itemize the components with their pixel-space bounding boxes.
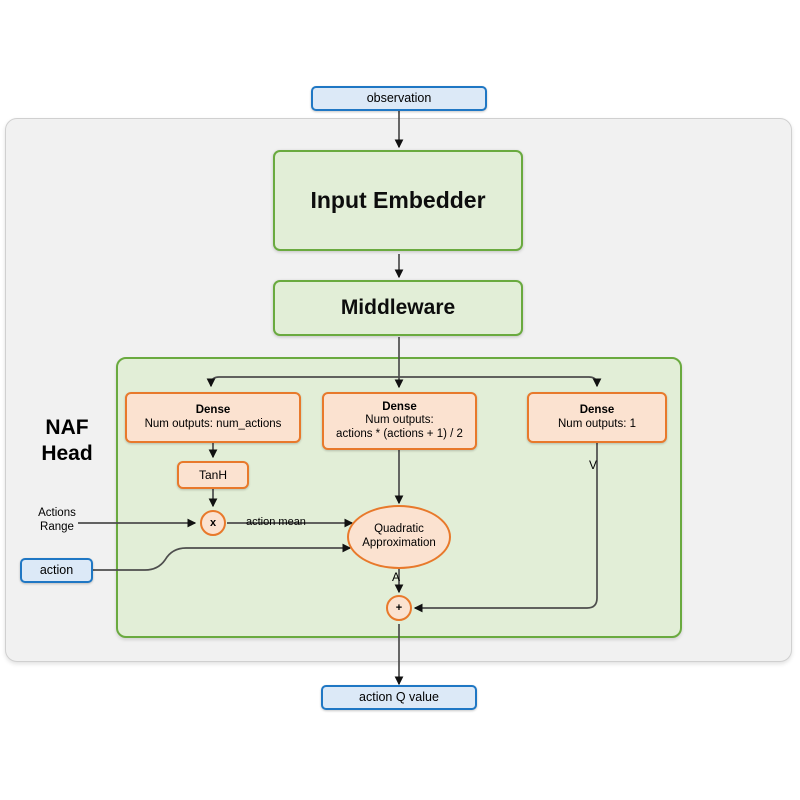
input-embedder-label: Input Embedder (310, 187, 485, 214)
dense-value-title: Dense (580, 404, 615, 418)
tanh-node[interactable]: TanH (177, 461, 249, 489)
dense-mean-title: Dense (196, 404, 231, 418)
multiply-op[interactable]: x (200, 510, 226, 536)
action-node[interactable]: action (20, 558, 93, 583)
dense-mean-node[interactable]: Dense Num outputs: num_actions (125, 392, 301, 443)
add-op[interactable]: + (386, 595, 412, 621)
dense-matrix-detail-1: Num outputs: (365, 414, 433, 428)
tanh-label: TanH (199, 468, 227, 482)
naf-head-label-line2: Head (22, 441, 112, 467)
naf-head-label-line1: NAF (22, 415, 112, 441)
value-text: V (589, 458, 597, 472)
output-node[interactable]: action Q value (321, 685, 477, 710)
quadratic-approximation-node[interactable]: Quadratic Approximation (347, 505, 451, 569)
dense-matrix-detail-2: actions * (actions + 1) / 2 (336, 428, 463, 442)
dense-mean-detail: Num outputs: num_actions (145, 418, 282, 432)
actions-range-line2: Range (22, 520, 92, 534)
multiply-label: x (210, 517, 216, 529)
actions-range-label: Actions Range (22, 506, 92, 535)
middleware-node[interactable]: Middleware (273, 280, 523, 336)
actions-range-line1: Actions (22, 506, 92, 520)
output-label: action Q value (359, 690, 439, 705)
advantage-text: A (392, 570, 400, 584)
edge-bus-to-dense-value (399, 377, 597, 386)
advantage-edge-label: A (392, 570, 400, 584)
dense-value-node[interactable]: Dense Num outputs: 1 (527, 392, 667, 443)
action-label: action (40, 563, 73, 578)
dense-matrix-title: Dense (382, 401, 417, 415)
action-mean-text: action mean (246, 516, 306, 528)
edge-action-to-quadratic (93, 548, 350, 570)
dense-value-detail: Num outputs: 1 (558, 418, 636, 432)
add-label: + (396, 602, 402, 614)
observation-node[interactable]: observation (311, 86, 487, 111)
middleware-label: Middleware (341, 296, 455, 321)
diagram-canvas: observation Input Embedder Middleware NA… (0, 0, 800, 800)
naf-head-label: NAF Head (22, 415, 112, 468)
observation-label: observation (367, 91, 432, 106)
value-edge-label: V (589, 458, 597, 472)
action-mean-edge-label: action mean (246, 516, 306, 528)
quadratic-label-line1: Quadratic (374, 523, 424, 537)
input-embedder-node[interactable]: Input Embedder (273, 150, 523, 251)
edge-bus-to-dense-mean (211, 377, 399, 386)
dense-matrix-node[interactable]: Dense Num outputs: actions * (actions + … (322, 392, 477, 450)
quadratic-label-line2: Approximation (362, 537, 436, 551)
